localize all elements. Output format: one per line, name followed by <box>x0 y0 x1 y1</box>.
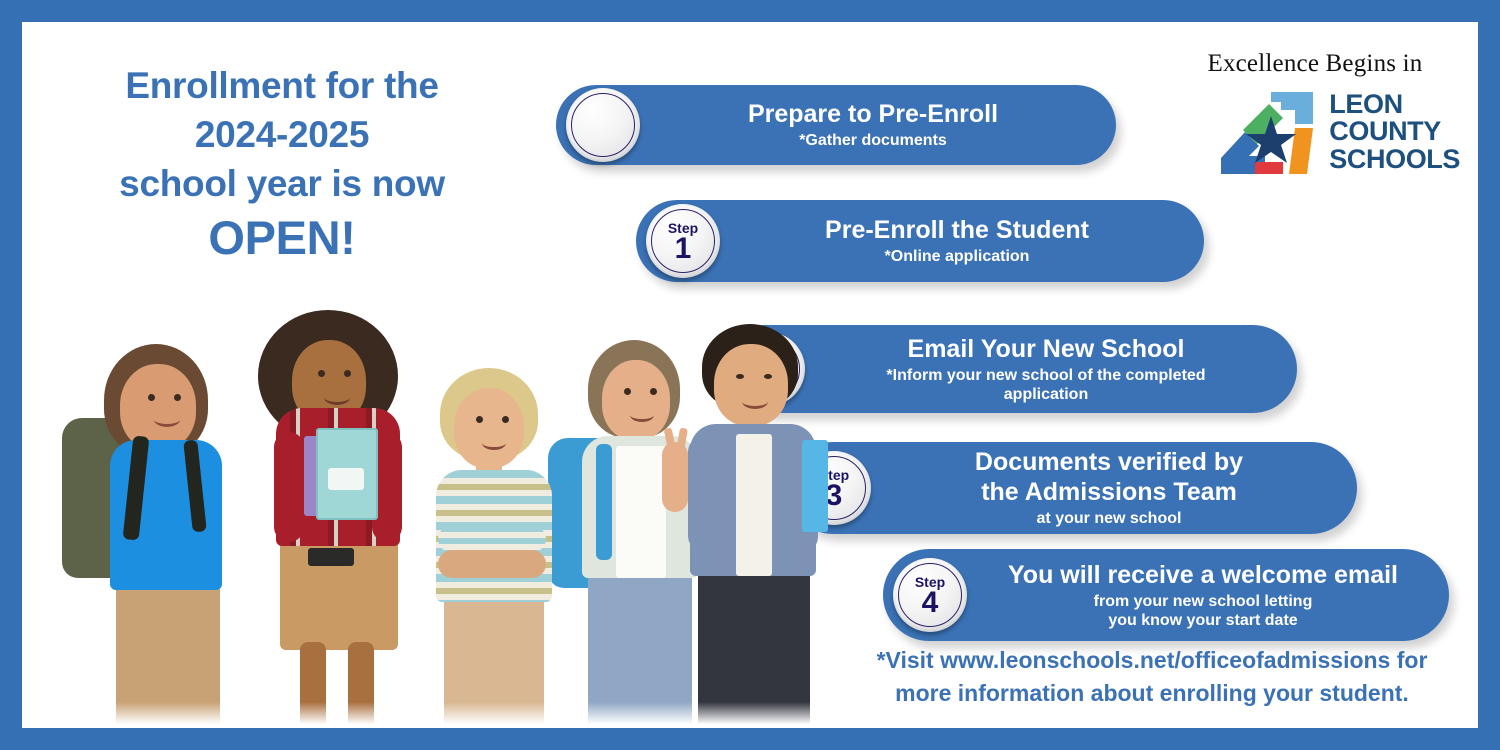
eye <box>624 388 631 395</box>
eye <box>764 374 772 379</box>
head <box>454 388 524 468</box>
eye <box>736 374 744 379</box>
step-subtitle: *Online application <box>724 247 1190 266</box>
arm <box>688 436 720 552</box>
headline-open: OPEN! <box>82 210 482 265</box>
eye <box>174 394 181 401</box>
step-subtitle: from your new school letting you know yo… <box>971 592 1435 630</box>
step-badge-number: 4 <box>922 588 939 618</box>
notebook-label <box>328 468 364 490</box>
step-pill-text: Pre-Enroll the Student *Online applicati… <box>720 215 1204 266</box>
step-pill-prepare[interactable]: Prepare to Pre-Enroll *Gather documents <box>556 85 1116 165</box>
logo-wordmark: LEON COUNTY SCHOOLS <box>1329 91 1460 174</box>
logo-row: LEON COUNTY SCHOOLS <box>1170 86 1460 178</box>
smile <box>630 408 654 422</box>
district-logo-block: Excellence Begins in <box>1170 50 1460 178</box>
step-title: Prepare to Pre-Enroll <box>644 99 1102 129</box>
page-title: Enrollment for the 2024-2025 school year… <box>82 62 482 266</box>
step-pill-3[interactable]: Step 3 Documents verified by the Admissi… <box>787 442 1357 534</box>
step-title: Email Your New School <box>809 334 1283 364</box>
step-title: Documents verified by the Admissions Tea… <box>875 447 1343 507</box>
headline-line-2: 2024-2025 <box>195 114 369 155</box>
step-badge-number: 1 <box>675 234 692 264</box>
eye <box>650 388 657 395</box>
step-pill-text: You will receive a welcome email from yo… <box>967 560 1449 630</box>
head <box>714 344 788 426</box>
smile <box>324 390 350 405</box>
step-subtitle: *Inform your new school of the completed… <box>809 366 1283 404</box>
student-figure-1 <box>62 328 242 728</box>
arm <box>274 432 304 542</box>
belt <box>308 548 354 566</box>
crossed-arm <box>438 550 546 578</box>
step-badge-4: Step 4 <box>893 558 967 632</box>
logo-word-schools: SCHOOLS <box>1329 146 1460 174</box>
step-pill-4[interactable]: Step 4 You will receive a welcome email … <box>883 549 1449 641</box>
notebook <box>802 440 828 532</box>
smile <box>482 436 506 450</box>
step-title: Pre-Enroll the Student <box>724 215 1190 245</box>
logo-word-county: COUNTY <box>1329 118 1460 146</box>
leon-county-schools-mark-icon <box>1219 86 1319 178</box>
step-pill-1[interactable]: Step 1 Pre-Enroll the Student *Online ap… <box>636 200 1204 282</box>
smile <box>742 394 768 409</box>
student-figure-2 <box>230 310 420 728</box>
eye <box>344 370 351 377</box>
logo-tagline: Excellence Begins in <box>1170 50 1460 78</box>
eye <box>318 370 325 377</box>
headline-line-3: school year is now <box>119 163 445 204</box>
step-subtitle: at your new school <box>875 509 1343 528</box>
photo-bottom-fade <box>52 702 812 728</box>
footer-line-1: *Visit www.leonschools.net/officeofadmis… <box>852 644 1452 677</box>
step-pill-text: Prepare to Pre-Enroll *Gather documents <box>640 99 1116 150</box>
footer-line-2: more information about enrolling your st… <box>852 677 1452 710</box>
step-badge-1: Step 1 <box>646 204 720 278</box>
arm-peace-sign <box>662 442 688 512</box>
step-subtitle: *Gather documents <box>644 131 1102 150</box>
step-pill-text: Documents verified by the Admissions Tea… <box>871 447 1357 528</box>
tshirt <box>616 446 666 578</box>
students-photo <box>52 307 812 728</box>
footer-note: *Visit www.leonschools.net/officeofadmis… <box>852 644 1452 711</box>
head <box>602 360 670 440</box>
tshirt <box>736 434 772 576</box>
poster-canvas: Enrollment for the 2024-2025 school year… <box>22 22 1478 728</box>
smile <box>154 412 180 427</box>
headline-line-1: Enrollment for the <box>125 65 438 106</box>
eye <box>502 416 509 423</box>
head <box>120 364 196 450</box>
eye <box>148 394 155 401</box>
enrollment-poster: Enrollment for the 2024-2025 school year… <box>0 0 1500 750</box>
step-title: You will receive a welcome email <box>971 560 1435 590</box>
crossed-arm <box>438 526 546 552</box>
backpack-strap <box>596 444 612 560</box>
step-badge-blank <box>566 88 640 162</box>
step-pill-text: Email Your New School *Inform your new s… <box>805 334 1297 404</box>
eye <box>476 416 483 423</box>
logo-word-leon: LEON <box>1329 91 1460 119</box>
